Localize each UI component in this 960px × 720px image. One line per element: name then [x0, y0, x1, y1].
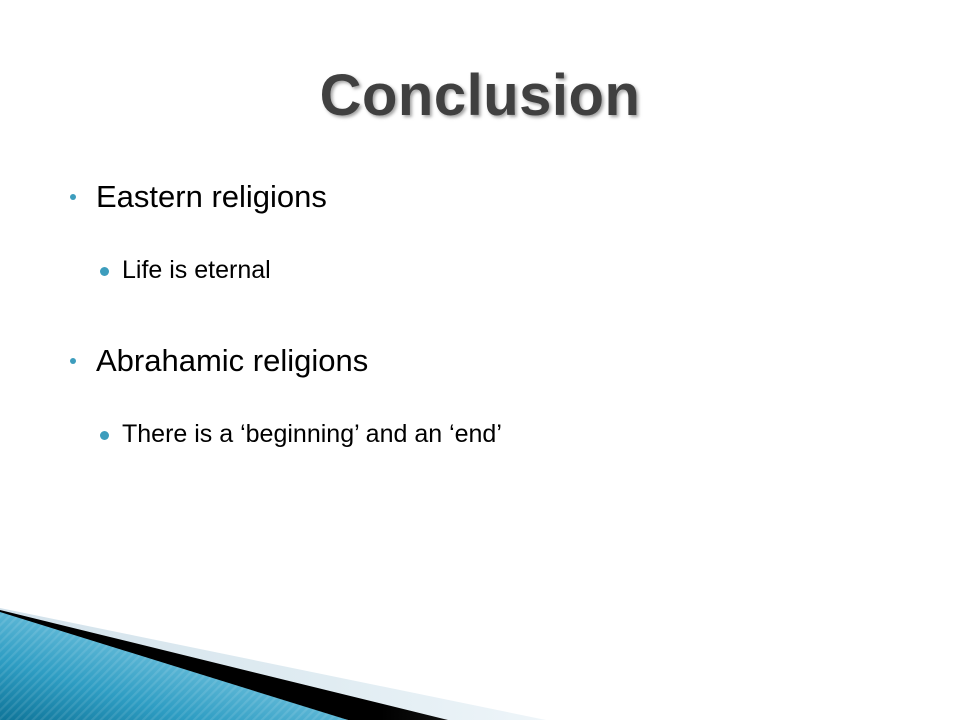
spacer — [0, 320, 900, 342]
corner-decoration-svg — [0, 590, 620, 720]
bullet-dot-icon — [100, 267, 109, 276]
slide: Conclusion Eastern religions Life is ete… — [0, 0, 960, 720]
bullet-dot-icon — [70, 194, 76, 200]
spacer — [0, 241, 900, 255]
list-item: There is a ‘beginning’ and an ‘end’ — [0, 419, 900, 450]
list-item: Life is eternal — [0, 255, 900, 286]
list-item: Abrahamic religions — [0, 342, 900, 381]
bullet-dot-icon — [70, 358, 76, 364]
teal-triangle — [0, 612, 348, 720]
black-stripe — [0, 610, 448, 720]
pale-wedge — [0, 608, 546, 720]
list-item-label: Eastern religions — [96, 179, 327, 214]
spacer — [0, 405, 900, 419]
bullet-dot-icon — [100, 431, 109, 440]
list-item: Eastern religions — [0, 178, 900, 217]
list-item-label: Life is eternal — [122, 256, 271, 284]
page-title: Conclusion — [0, 66, 960, 127]
bullet-list: Eastern religions Life is eternal Abraha… — [0, 178, 900, 578]
list-item-label: There is a ‘beginning’ and an ‘end’ — [122, 420, 502, 448]
teal-pinstripe-overlay — [0, 612, 348, 720]
diagonal-corner-graphic — [0, 590, 620, 720]
list-item-label: Abrahamic religions — [96, 343, 368, 378]
